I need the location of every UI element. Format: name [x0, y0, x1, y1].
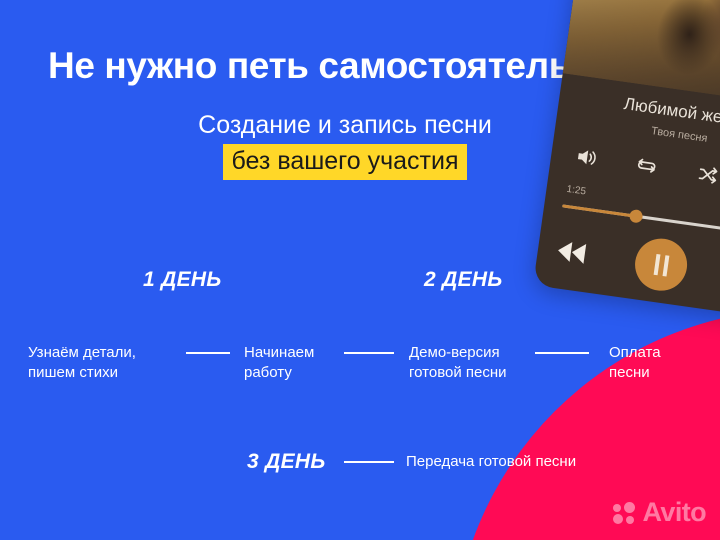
timeline-step-2: Начинаем работу: [244, 343, 314, 383]
timeline-step-4-line-2: песни: [609, 363, 661, 383]
shuffle-icon[interactable]: [695, 163, 720, 186]
avito-dot-1: [613, 504, 621, 512]
timeline-step-5-line-1: Передача готовой песни: [406, 452, 576, 472]
avito-dot-3: [613, 514, 623, 524]
player-secondary-controls: [574, 146, 720, 194]
pause-bars: [653, 253, 669, 276]
connector-dash-3: [535, 352, 589, 354]
timeline-step-1: Узнаём детали, пишем стихи: [28, 343, 136, 383]
subtitle-highlight: без вашего участия: [223, 144, 468, 180]
day-label-2: 2 ДЕНЬ: [424, 268, 503, 292]
timeline-step-4-line-1: Оплата: [609, 343, 661, 363]
connector-dash-4: [344, 461, 394, 463]
timeline-step-1-line-1: Узнаём детали,: [28, 343, 136, 363]
avito-dot-2: [624, 502, 635, 513]
day-label-1: 1 ДЕНЬ: [143, 268, 222, 292]
connector-dash-1: [186, 352, 230, 354]
avito-logo-icon: [613, 502, 637, 524]
timeline-step-4: Оплата песни: [609, 343, 661, 383]
timeline-step-1-line-2: пишем стихи: [28, 363, 136, 383]
volume-icon[interactable]: [574, 146, 599, 169]
repeat-icon[interactable]: [635, 154, 660, 177]
pause-bar-left: [653, 253, 660, 274]
player-transport-controls: [551, 224, 720, 306]
timeline-step-5: Передача готовой песни: [406, 452, 576, 472]
timeline-step-2-line-2: работу: [244, 363, 314, 383]
connector-dash-2: [344, 352, 394, 354]
seek-progress: [562, 204, 637, 217]
previous-icon[interactable]: [552, 235, 592, 270]
timeline-step-2-line-1: Начинаем: [244, 343, 314, 363]
timeline-step-3-line-1: Демо-версия: [409, 343, 507, 363]
timeline-step-3: Демо-версия готовой песни: [409, 343, 507, 383]
avito-watermark: Avito: [613, 497, 707, 528]
seek-handle[interactable]: [629, 209, 644, 224]
day-label-3: 3 ДЕНЬ: [247, 450, 326, 474]
avito-wordmark: Avito: [643, 497, 707, 528]
pause-icon[interactable]: [632, 235, 691, 294]
advertisement-banner: Не нужно петь самостоятельно Создание и …: [0, 0, 720, 540]
avito-dot-4: [626, 516, 634, 524]
elapsed-time: 1:25: [566, 184, 587, 198]
pause-bar-right: [662, 255, 669, 276]
timeline-step-3-line-2: готовой песни: [409, 363, 507, 383]
